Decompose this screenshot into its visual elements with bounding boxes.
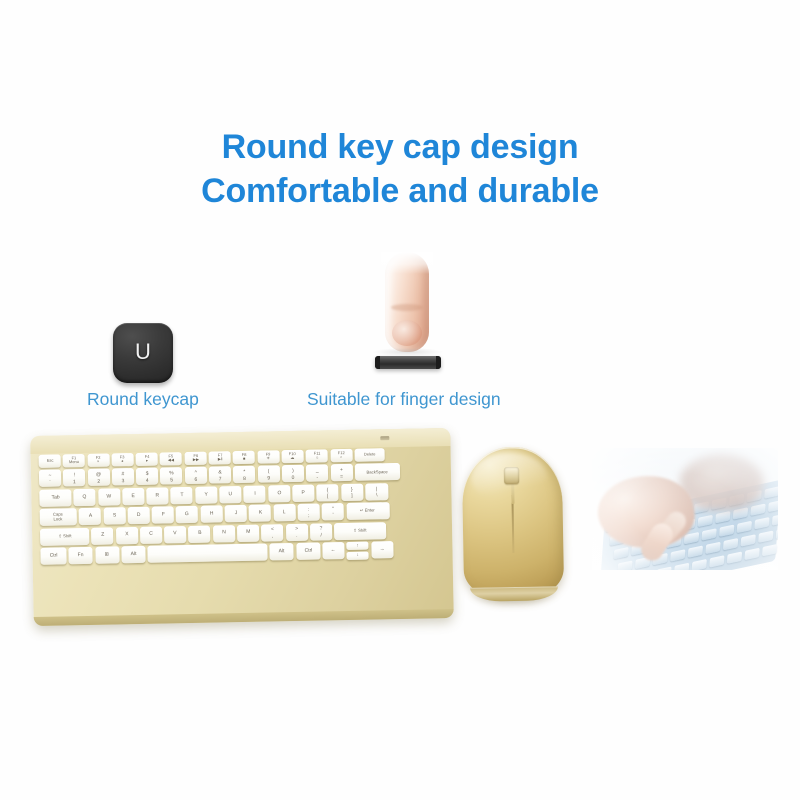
key-lower-legend: 4 [146,477,149,483]
key-legend: F4▸ [144,455,149,463]
key-legend: F7▶‖ [217,454,222,462]
key-fn[interactable]: Fn [69,547,93,564]
key-legend: ↓ [357,553,359,558]
key-f7[interactable]: F7▶‖ [209,451,231,464]
key-s[interactable]: S [103,507,125,524]
key-f8[interactable]: F8■ [233,451,255,464]
keycap-letter: U [113,323,173,383]
key-legend: Delete [364,453,376,457]
key-upper-legend: " [332,506,334,512]
key-arrow-up[interactable]: ↑ [347,542,369,550]
key-upper-legend: @ [96,472,101,478]
key-space[interactable] [148,543,268,562]
key-legend: W [107,494,112,499]
key-f1[interactable]: F1Menu [63,454,85,467]
key-legend: ← [331,548,336,553]
key-legend: F8■ [242,453,247,461]
hands-typing-photo [592,448,778,570]
finger-crease [391,304,423,311]
key-upper-legend: | [376,486,377,492]
key-upper-legend: < [271,527,274,533]
key-legend: P [302,490,305,495]
key-legend: C [149,532,153,537]
key-legend: F [161,513,164,518]
key-legend: H [210,512,214,517]
key-legend: J [235,511,238,516]
scroll-wheel [504,467,519,484]
key-space[interactable]: ⊞ [95,546,119,563]
flat-key-bar [375,356,441,369]
key-legend: D [137,513,141,518]
key-n[interactable]: N [213,525,235,542]
key-f6[interactable]: F6▶▶ [184,452,206,465]
key-legend: Ctrl [304,548,312,553]
key-f12[interactable]: F12⌕ [330,449,352,462]
key-legend: X [125,533,128,538]
key-4[interactable]: $4 [136,468,158,485]
key-2[interactable]: @2 [87,469,109,486]
key-upper-legend: _ [316,468,319,474]
mouse-wheel-stem [511,484,514,504]
key-upper-legend: ) [292,468,294,474]
key-lower-legend: 6 [194,476,197,482]
key-h[interactable]: H [200,506,222,523]
key-legend: K [258,511,261,516]
key-space[interactable]: :; [298,504,320,521]
key-arrow-left[interactable]: ← [322,542,344,559]
key-z[interactable]: Z [91,527,113,544]
key-o[interactable]: O [268,485,290,502]
key-legend: R [156,493,160,498]
key-q[interactable]: Q [74,489,96,506]
key-legend: F10☁ [289,452,296,461]
status-indicator-light [380,436,389,440]
key-upper-legend: : [308,507,310,513]
round-keycap-illustration: U [113,323,173,383]
key-space[interactable]: += [330,464,352,481]
key-arrow-down[interactable]: ↓ [347,551,369,559]
key-upper-legend: ~ [48,473,51,479]
key-legend: B [198,531,201,536]
finger-press-illustration [355,252,465,387]
headline-line-1: Round key cap design [0,126,800,168]
key-lower-legend: 2 [97,478,100,484]
key-legend: Q [83,495,87,500]
key-upper-legend: * [243,469,245,475]
key-legend: E [132,494,135,499]
key-lower-legend: 7 [219,476,222,482]
key-lower-legend: 0 [292,475,295,481]
key-tab[interactable]: Tab [39,489,71,507]
key-lower-legend: \ [376,492,378,498]
key-lower-legend: 1 [73,479,76,485]
key-enter[interactable]: ↵ Enter [346,502,389,520]
key-f9[interactable]: F9☀ [257,450,279,463]
key-legend: CapsLock [53,513,63,522]
key-upper-legend: $ [146,471,149,477]
key-legend: F12⌕ [338,451,345,460]
key-legend: Fn [78,553,84,558]
key-x[interactable]: X [116,527,138,544]
key-space[interactable]: }] [341,483,363,500]
key-f5[interactable]: F5◀◀ [160,452,182,465]
key-legend: F11☼ [314,452,321,460]
key-alt[interactable]: Alt [270,543,294,560]
key-legend: Alt [130,552,136,557]
key-legend: Alt [279,549,285,554]
photo-edge-fade [592,448,778,570]
caption-round-keycap: Round keycap [87,389,199,410]
key-u[interactable]: U [219,486,241,503]
key-upper-legend: > [295,526,298,532]
key-legend: BackSpace [367,470,388,475]
key-w[interactable]: W [98,488,120,505]
key-lower-legend: , [272,533,274,539]
key-space[interactable]: |\ [365,483,388,500]
key-f[interactable]: F [152,506,174,523]
finger-fade-overlay [381,252,433,274]
key-lower-legend: 5 [170,477,173,483]
key-legend: Tab [51,495,59,500]
key-legend: N [222,531,226,536]
key-shadow [373,348,443,356]
key-k[interactable]: K [249,505,271,522]
key-legend: V [174,532,177,537]
key-p[interactable]: P [292,484,314,501]
key-legend: M [246,530,250,535]
key-7[interactable]: &7 [209,467,231,484]
key-v[interactable]: V [164,526,186,543]
key-legend: F5◀◀ [168,455,174,463]
key-0[interactable]: )0 [282,465,304,482]
key-legend: Ctrl [50,553,58,558]
key-l[interactable]: L [273,504,295,521]
key-alt[interactable]: Alt [121,546,145,563]
key-r[interactable]: R [146,487,168,504]
key-b[interactable]: B [188,525,210,542]
key-legend: I [254,491,255,496]
key-space[interactable]: _- [306,465,328,482]
key-d[interactable]: D [127,507,149,524]
key-legend: T [180,493,183,498]
key-lower-legend: - [316,474,318,480]
key-upper-legend: } [351,486,353,492]
key-legend: A [88,514,91,519]
key-6[interactable]: ^6 [185,467,207,484]
key-a[interactable]: A [79,508,101,525]
key-lower-legend: ] [351,493,353,499]
key-lower-legend: [ [327,493,329,499]
headline-block: Round key cap design Comfortable and dur… [0,126,800,212]
key-f10[interactable]: F10☁ [282,450,304,463]
key-legend: Y [204,492,207,497]
key-t[interactable]: T [171,487,193,504]
key-3[interactable]: #3 [112,468,134,485]
key-j[interactable]: J [225,505,247,522]
key-lower-legend: . [296,533,298,539]
key-delete[interactable]: Delete [354,448,384,462]
caption-finger-design: Suitable for finger design [307,389,501,410]
arrow-key-stack: ↑↓ [347,542,369,560]
key-legend: F9☀ [266,453,271,461]
key-legend: F1Menu [69,456,79,465]
key-legend: L [283,510,286,515]
wireless-mouse [462,446,565,613]
key-legend: Esc [46,459,53,463]
key-lower-legend: = [340,474,343,480]
keyboard-keys: EscF1MenuF2×F3◂F4▸F5◀◀F6▶▶F7▶‖F8■F9☀F10☁… [39,447,445,568]
key-legend: → [380,547,385,552]
key-upper-legend: ? [320,526,323,532]
key-upper-legend: { [327,487,329,493]
key-shift[interactable]: ⇧ Shift [40,528,89,546]
key-legend: F6▶▶ [192,454,198,462]
key-lower-legend: ` [49,479,51,485]
key-upper-legend: # [121,471,124,477]
key-esc[interactable]: Esc [39,454,61,467]
key-upper-legend: ! [74,472,76,478]
key-legend: ⇧ Shift [58,534,71,539]
key-upper-legend: ( [268,469,270,475]
key-legend: ↵ Enter [360,509,375,514]
key-f4[interactable]: F4▸ [136,453,158,466]
key-ctrl[interactable]: Ctrl [296,542,320,559]
key-lower-legend: 8 [243,476,246,482]
key-space[interactable]: >. [286,523,308,540]
key-5[interactable]: %5 [160,468,182,485]
key-lower-legend: 9 [267,475,270,481]
key-9[interactable]: (9 [258,466,280,483]
key-backspace[interactable]: BackSpace [355,463,400,481]
key-lower-legend: ; [308,513,310,519]
key-legend: O [277,491,281,496]
key-caps[interactable]: CapsLock [40,508,77,526]
key-legend: U [229,492,233,497]
key-f2[interactable]: F2× [87,454,109,467]
key-upper-legend: % [169,470,174,476]
key-arrow-right[interactable]: → [371,541,393,558]
key-y[interactable]: Y [195,486,217,503]
key-8[interactable]: *8 [233,466,255,483]
key-ctrl[interactable]: Ctrl [40,547,66,564]
wireless-keyboard: EscF1MenuF2×F3◂F4▸F5◀◀F6▶▶F7▶‖F8■F9☀F10☁… [30,428,454,626]
key-legend: F2× [96,456,101,464]
headline-line-2: Comfortable and durable [0,170,800,212]
key-lower-legend: ' [333,513,334,519]
key-legend: ↑ [357,543,359,548]
key-lower-legend: / [320,532,322,538]
key-legend: F3◂ [120,456,125,464]
key-upper-legend: ^ [194,470,196,476]
key-lower-legend: 3 [122,478,125,484]
key-legend: Z [101,533,104,538]
key-e[interactable]: E [122,488,144,505]
product-banner: Round key cap design Comfortable and dur… [0,0,800,800]
key-legend: G [185,512,189,517]
key-legend: ⊞ [105,552,109,557]
key-shift[interactable]: ⇧ Shift [334,522,386,540]
key-space[interactable]: ~` [39,470,61,487]
key-upper-legend: & [218,470,221,476]
key-1[interactable]: !1 [63,469,85,486]
key-space[interactable]: "' [322,503,344,520]
key-space[interactable]: <, [261,524,283,541]
key-space[interactable]: {[ [316,484,338,501]
key-space[interactable]: ?/ [310,523,332,540]
key-i[interactable]: I [244,485,266,502]
key-g[interactable]: G [176,506,198,523]
key-m[interactable]: M [237,524,259,541]
key-upper-legend: + [340,467,343,473]
key-legend: ⇧ Shift [354,528,367,533]
key-f3[interactable]: F3◂ [111,453,133,466]
key-f11[interactable]: F11☼ [306,449,328,462]
key-legend: S [113,513,116,518]
key-c[interactable]: C [140,526,162,543]
